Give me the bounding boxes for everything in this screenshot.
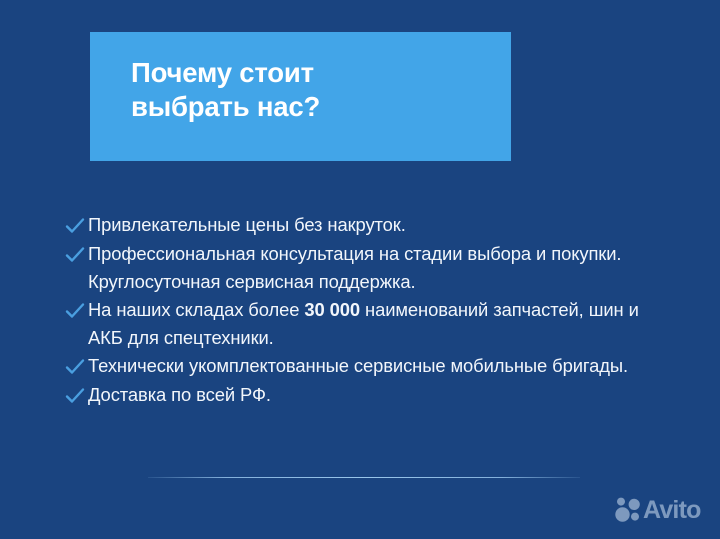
title-banner: Почему стоит выбрать нас? <box>90 32 511 161</box>
list-item: На наших складах более 30 000 наименован… <box>64 296 674 352</box>
avito-watermark: Avito <box>614 497 701 523</box>
list-item: Доставка по всей РФ. <box>64 381 674 410</box>
check-icon <box>64 212 88 240</box>
check-icon <box>64 297 88 325</box>
list-item-highlight-value: 30 000 <box>304 299 360 320</box>
slide-canvas: Почему стоит выбрать нас? Привлекательны… <box>0 0 720 539</box>
divider <box>148 477 580 478</box>
avito-dots-logo-icon <box>614 497 642 523</box>
check-icon <box>64 382 88 410</box>
check-icon <box>64 353 88 381</box>
list-item-label: Доставка по всей РФ. <box>88 381 674 409</box>
check-icon <box>64 241 88 269</box>
list-item-text-before: На наших складах более <box>88 299 304 320</box>
page-title: Почему стоит выбрать нас? <box>131 56 471 124</box>
list-item: Привлекательные цены без накруток. <box>64 211 674 240</box>
list-item-label: Профессиональная консультация на стадии … <box>88 240 674 296</box>
list-item-label: На наших складах более 30 000 наименован… <box>88 296 674 352</box>
list-item-label: Технически укомплектованные сервисные мо… <box>88 352 674 380</box>
list-item: Профессиональная консультация на стадии … <box>64 240 674 296</box>
list-item: Технически укомплектованные сервисные мо… <box>64 352 674 381</box>
list-item-label: Привлекательные цены без накруток. <box>88 211 674 239</box>
avito-wordmark-label: Avito <box>643 497 701 523</box>
benefits-list: Привлекательные цены без накруток. Профе… <box>64 211 674 410</box>
